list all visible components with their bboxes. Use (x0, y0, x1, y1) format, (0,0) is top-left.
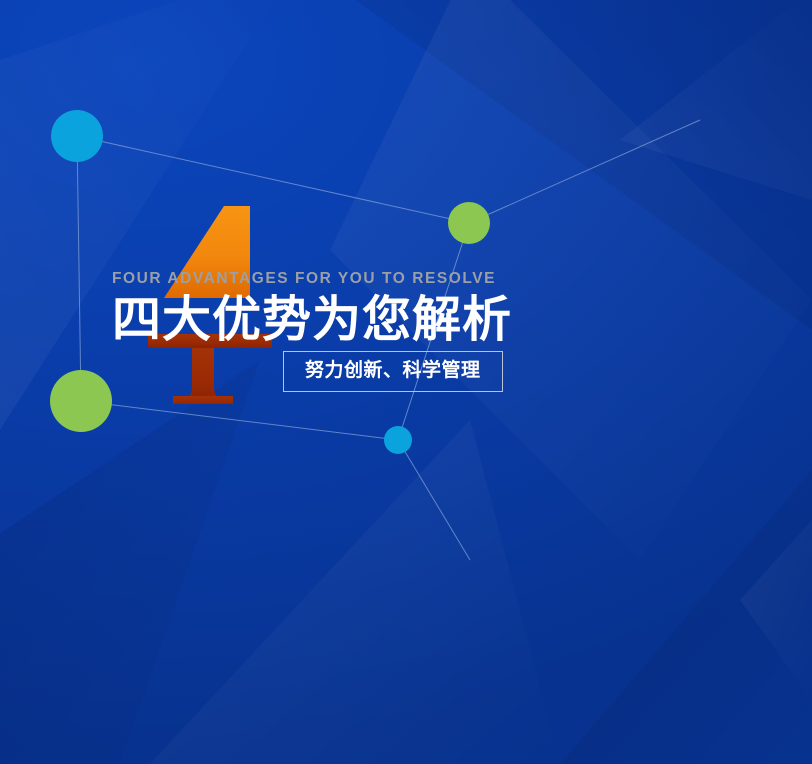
headline-block: FOUR ADVANTAGES FOR YOU TO RESOLVE 四大优势为… (112, 271, 712, 345)
node-green-small (448, 202, 490, 244)
node-teal-large (51, 110, 103, 162)
node-teal-small (384, 426, 412, 454)
tagline-text: 努力创新、科学管理 (305, 360, 481, 381)
tagline-box: 努力创新、科学管理 (283, 351, 503, 392)
eyebrow-text: FOUR ADVANTAGES FOR YOU TO RESOLVE (112, 271, 712, 287)
promo-banner: FOUR ADVANTAGES FOR YOU TO RESOLVE 四大优势为… (0, 0, 812, 764)
page-title: 四大优势为您解析 (112, 295, 712, 346)
node-green-large (50, 370, 112, 432)
